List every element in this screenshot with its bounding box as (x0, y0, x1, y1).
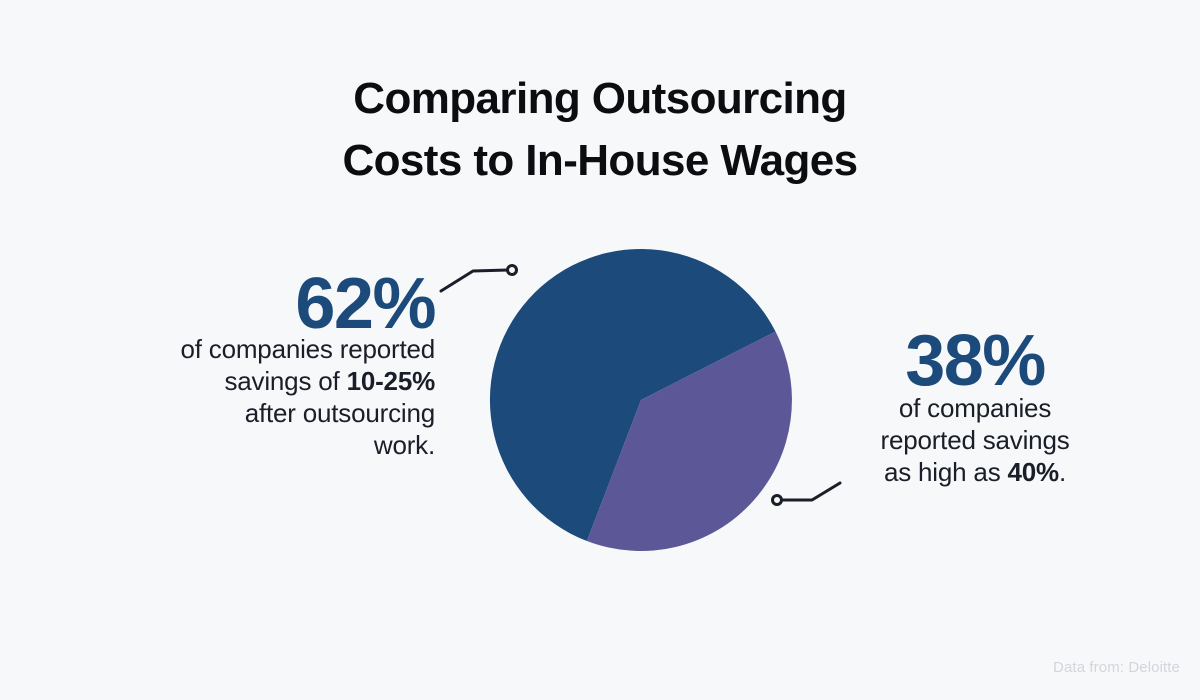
right-callout-highlight: 40% (1008, 457, 1059, 487)
leader-line-left (441, 266, 517, 292)
left-callout-line-2-prefix: savings of (224, 366, 346, 396)
right-callout-line-3-prefix: as high as (884, 457, 1008, 487)
left-percentage-value: 62% (135, 268, 435, 340)
left-callout-line-4: work. (374, 430, 435, 460)
leader-line-right-path (781, 483, 840, 500)
title-line-2: Costs to In-House Wages (0, 130, 1200, 192)
right-callout-line-2: reported savings (880, 425, 1069, 455)
source-attribution: Data from: Deloitte (1053, 658, 1180, 678)
pie-chart (430, 240, 860, 570)
leader-line-left-path (441, 270, 508, 291)
leader-line-right (773, 483, 841, 505)
right-callout-line-3-suffix: . (1059, 457, 1066, 487)
title-line-1: Comparing Outsourcing (0, 68, 1200, 130)
page-title: Comparing Outsourcing Costs to In-House … (0, 68, 1200, 192)
right-percentage-value: 38% (860, 325, 1090, 397)
left-callout-line-3: after outsourcing (245, 398, 435, 428)
right-callout-text: of companies reported savings as high as… (845, 392, 1105, 488)
infographic-canvas: Comparing Outsourcing Costs to In-House … (0, 0, 1200, 700)
leader-endpoint-left-dot (508, 266, 517, 275)
left-callout-text: of companies reported savings of 10-25% … (95, 333, 435, 461)
leader-endpoint-right-dot (773, 496, 782, 505)
right-callout-line-1: of companies (899, 393, 1051, 423)
left-callout-line-1: of companies reported (180, 334, 435, 364)
left-callout-highlight: 10-25% (347, 366, 435, 396)
